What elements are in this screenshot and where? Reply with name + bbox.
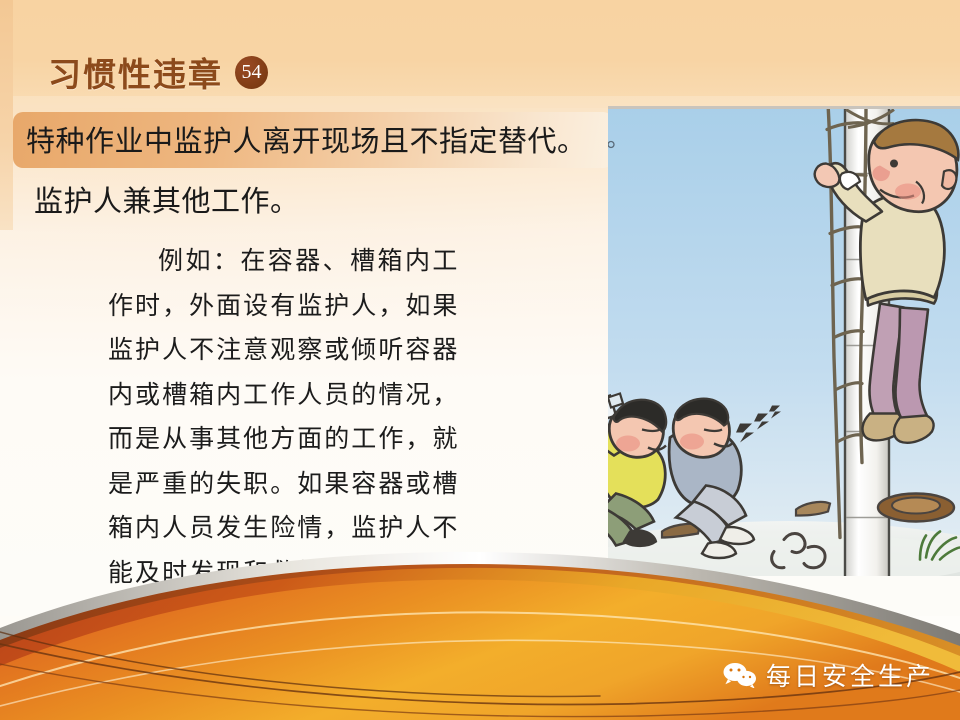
watermark: 每日安全生产 (723, 657, 934, 693)
cartoon-illustration (608, 106, 960, 576)
statement-line-2: 监护人兼其他工作。 (34, 178, 634, 220)
page-title-label: 习惯性违章 (48, 48, 223, 96)
slide-canvas: 习惯性违章 54 特种作业中监护人离开现场且不指定替代。 监护人兼其他工作。 例… (0, 0, 960, 720)
body-paragraph: 例如：在容器、槽箱内工作时，外面设有监护人，如果监护人不注意观察或倾听容器内或槽… (108, 240, 458, 641)
watermark-label: 每日安全生产 (766, 657, 934, 693)
wechat-icon (723, 662, 757, 688)
page-title: 习惯性违章 54 (48, 48, 268, 96)
statement-line-1: 特种作业中监护人离开现场且不指定替代。 (26, 118, 646, 160)
left-edge-strip (0, 0, 13, 230)
status-badge: 54 (235, 56, 268, 89)
